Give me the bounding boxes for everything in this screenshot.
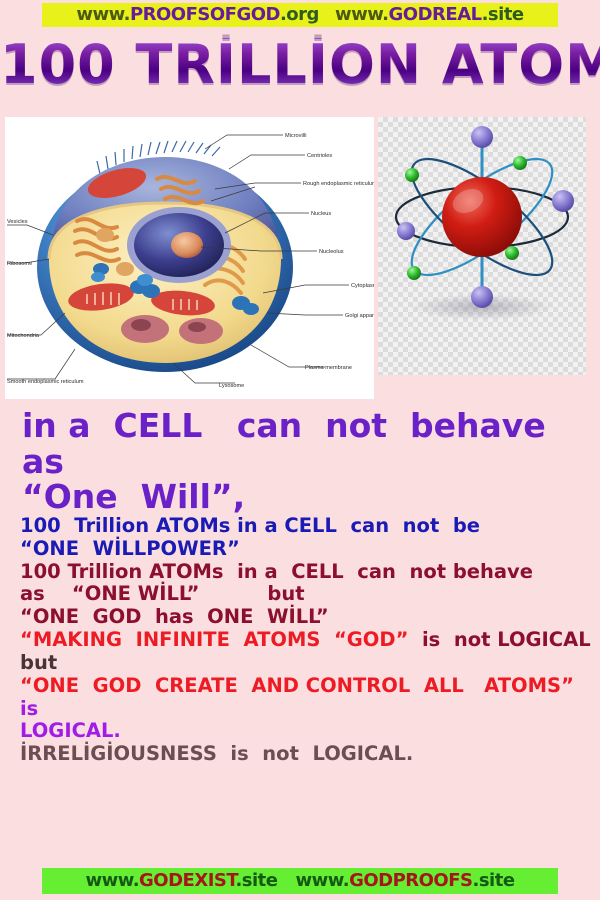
text-segment: “ONE WİLLPOWER”	[20, 537, 240, 560]
link-domain-name: PROOFSOFGOD	[130, 4, 280, 25]
text-segment: “MAKING INFINITE ATOMS “GOD”	[20, 628, 422, 651]
electron-green-upper-right	[513, 156, 527, 170]
text-segment: “ONE GOD CREATE AND CONTROL ALL ATOMS”	[20, 674, 587, 697]
text-segment: 100 Trillion ATOMs in a CELL can not be	[20, 514, 480, 537]
link-www-prefix: www.	[295, 870, 349, 891]
cell-label-rough-er: Rough endoplasmic reticulum	[303, 181, 374, 187]
cell-label-vesicles: Vesicles	[7, 219, 28, 225]
link-www-prefix: www.	[76, 4, 130, 25]
text-segment: “ONE GOD has ONE WİLL”	[20, 605, 329, 628]
subtitle-block: in a CELL can not behave as “One Will”,	[22, 408, 592, 515]
link-domain-tld: .org	[280, 4, 319, 25]
argument-line: “ONE GOD has ONE WİLL”	[20, 606, 595, 629]
link-www-prefix: www.	[85, 870, 139, 891]
cell-label-nucleus: Nucleus	[311, 211, 331, 217]
link-domain-name: GODPROOFS	[349, 870, 472, 891]
electron-purple-top	[471, 126, 493, 148]
argument-line: as “ONE WİLL” but	[20, 583, 595, 606]
text-segment: as “ONE WİLL” but	[20, 582, 305, 605]
cell-label-nucleolus: Nucleolus	[319, 249, 344, 255]
argument-line: İRRELİGİOUSNESS is not LOGICAL.	[20, 743, 595, 766]
poster-page: { "background_color": "#fadee0", "top_ba…	[0, 0, 600, 900]
cell-label-smooth-er: Smooth endoplasmic reticulum	[7, 379, 84, 385]
link-domain-tld: .site	[235, 870, 277, 891]
argument-line: 100 Trillion ATOMs in a CELL can not be	[20, 515, 595, 538]
text-segment: İRRELİGİOUSNESS is not LOGICAL.	[20, 742, 413, 765]
argument-line: “ONE GOD CREATE AND CONTROL ALL ATOMS” i…	[20, 675, 595, 721]
nucleolus	[171, 232, 203, 258]
cell-label-microvilli: Microvilli	[285, 133, 306, 139]
cell-label-plasma-membrane: Plasma membrane	[305, 365, 352, 371]
cell-label-mitochondria: Mitochondria	[7, 333, 40, 339]
cell-diagram-figure: Microvilli Centrioles Rough endoplasmic …	[5, 117, 374, 399]
electron-green-lower-right	[505, 246, 519, 260]
text-segment: LOGICAL.	[20, 719, 121, 742]
link-domain-name: GODREAL	[389, 4, 482, 25]
link-proofsofgod[interactable]: www.PROOFSOFGOD.org	[76, 6, 319, 24]
link-domain-name: GODEXIST	[139, 870, 235, 891]
cell-diagram-svg: Microvilli Centrioles Rough endoplasmic …	[5, 117, 374, 399]
cell-label-cytoplasm: Cytoplasm	[351, 283, 374, 289]
figure-row: Microvilli Centrioles Rough endoplasmic …	[5, 117, 595, 399]
top-link-banner: www.PROOFSOFGOD.org www.GODREAL.site	[42, 3, 558, 27]
electron-purple-left	[397, 222, 415, 240]
link-godexist[interactable]: www.GODEXIST.site	[85, 872, 277, 890]
link-godproofs[interactable]: www.GODPROOFS.site	[295, 872, 514, 890]
argument-line: 100 Trillion ATOMs in a CELL can not beh…	[20, 561, 595, 584]
electron-green-lower-left	[407, 266, 421, 280]
text-segment: 100 Trillion ATOMs in a CELL can not beh…	[20, 560, 533, 583]
link-domain-tld: .site	[482, 4, 524, 25]
electron-purple-right	[552, 190, 574, 212]
atom-diagram-svg	[378, 117, 586, 375]
atom-nucleus	[442, 177, 522, 257]
electron-purple-bottom	[471, 286, 493, 308]
link-www-prefix: www.	[335, 4, 389, 25]
argument-line: “ONE WİLLPOWER”	[20, 538, 595, 561]
argument-line: “MAKING INFINITE ATOMS “GOD” is not LOGI…	[20, 629, 595, 652]
cell-label-ribosome: Ribosome	[7, 261, 32, 267]
link-godreal[interactable]: www.GODREAL.site	[335, 6, 524, 24]
text-segment: is	[20, 697, 38, 720]
argument-line: but	[20, 652, 595, 675]
page-title: 100 TRİLLİON ATOMS	[0, 38, 600, 92]
atom-diagram-figure	[378, 117, 586, 375]
cell-label-centrioles: Centrioles	[307, 153, 332, 159]
text-segment: is not LOGICAL	[422, 628, 591, 651]
cell-label-golgi: Golgi apparatus	[345, 313, 374, 319]
cell-label-lysosome: Lysosome	[219, 383, 244, 389]
argument-line: LOGICAL.	[20, 720, 595, 743]
bottom-link-banner: www.GODEXIST.site www.GODPROOFS.site	[42, 868, 558, 894]
link-domain-tld: .site	[473, 870, 515, 891]
electron-green-upper-left	[405, 168, 419, 182]
argument-text-block: 100 Trillion ATOMs in a CELL can not be …	[20, 515, 595, 766]
text-segment: but	[20, 651, 57, 674]
subtitle-line-2: “One Will”,	[22, 479, 592, 515]
subtitle-line-1: in a CELL can not behave as	[22, 408, 592, 479]
